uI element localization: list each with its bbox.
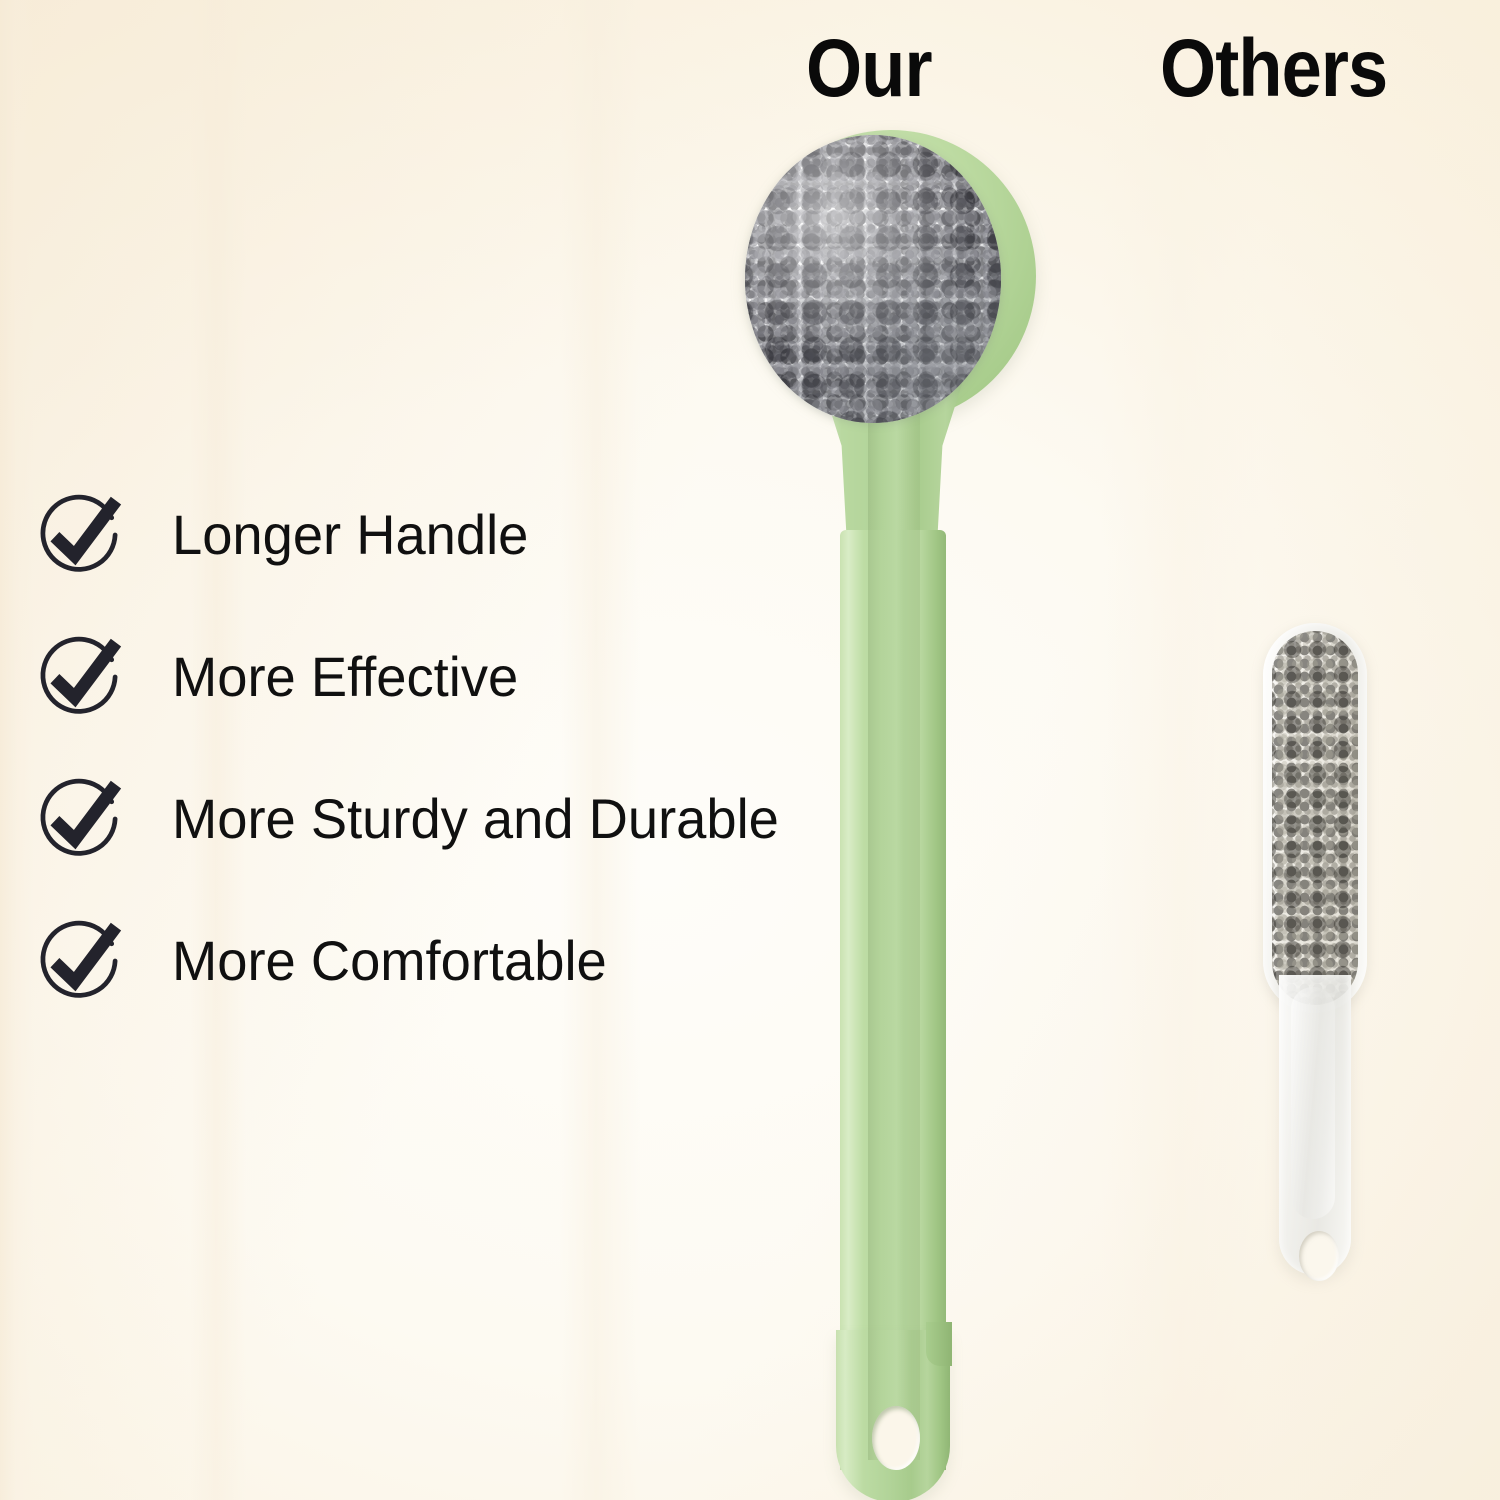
pumice-shading-layer — [745, 135, 1001, 423]
column-header-others: Others — [1160, 28, 1387, 110]
product-hang-hole — [872, 1406, 920, 1470]
feature-item: Longer Handle — [32, 486, 792, 628]
feature-label: Longer Handle — [172, 492, 528, 578]
check-circle-icon — [36, 918, 122, 1004]
product-comparison-image: Our Others Longer Handle More Effective — [0, 0, 1500, 1500]
feature-item: More Effective — [32, 628, 792, 770]
feature-label: More Comfortable — [172, 918, 607, 1004]
feature-list: Longer Handle More Effective More Sturdy… — [32, 486, 792, 1054]
product-image-others — [1255, 615, 1435, 1325]
other-hang-hole — [1299, 1231, 1339, 1281]
product-handle-groove — [868, 372, 920, 1460]
column-header-ours: Our — [806, 28, 932, 110]
check-circle-icon — [36, 776, 122, 862]
pumice-pad-oblong — [1272, 631, 1358, 1005]
feature-label: More Sturdy and Durable — [172, 776, 779, 862]
feature-item: More Comfortable — [32, 912, 792, 1054]
product-handle-notch — [926, 1322, 952, 1366]
other-handle-groove — [1291, 987, 1335, 1219]
feature-label: More Effective — [172, 634, 518, 720]
product-image-ours — [700, 110, 1100, 1500]
pumice-stone-round — [745, 135, 1001, 423]
check-circle-icon — [36, 492, 122, 578]
pumice-texture-layer — [1272, 631, 1358, 1005]
feature-item: More Sturdy and Durable — [32, 770, 792, 912]
check-circle-icon — [36, 634, 122, 720]
